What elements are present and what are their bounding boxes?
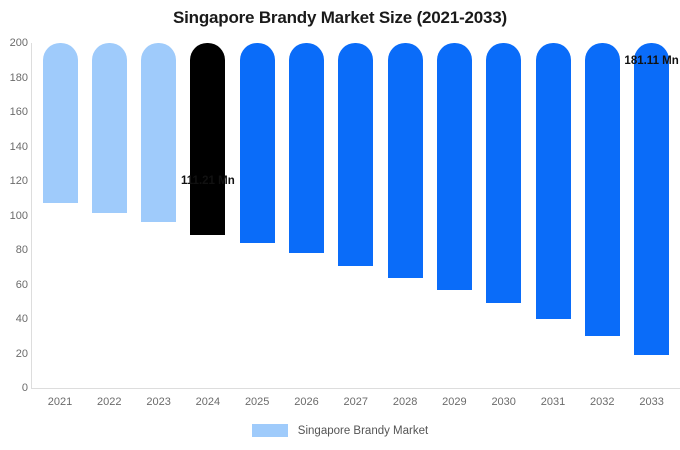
y-axis-tick-label: 60	[2, 279, 28, 291]
bar-chart: Singapore Brandy Market Size (2021-2033)…	[0, 0, 680, 450]
legend-swatch-singapore-brandy-market	[252, 424, 288, 437]
y-axis-tick-label: 180	[2, 72, 28, 84]
bar-value-label-2033: 181.11 Mn	[624, 55, 678, 67]
y-axis-tick-label: 200	[2, 37, 28, 49]
bar-2026[interactable]	[289, 43, 324, 253]
x-axis-tick-label-2025: 2025	[232, 396, 282, 408]
y-axis-tick-label: 80	[2, 244, 28, 256]
bar-fill-2021[interactable]	[43, 43, 78, 203]
y-axis-tick-label: 160	[2, 106, 28, 118]
bar-2024[interactable]	[190, 43, 225, 235]
bar-2027[interactable]	[338, 43, 373, 266]
y-axis: 020406080100120140160180200	[0, 0, 28, 450]
bar-2030[interactable]	[486, 43, 521, 303]
bar-2033[interactable]	[634, 43, 669, 355]
x-axis-tick-label-2026: 2026	[282, 396, 332, 408]
bar-fill-2027[interactable]	[338, 43, 373, 266]
x-axis-line	[31, 388, 680, 389]
bar-2023[interactable]	[141, 43, 176, 222]
bar-value-label-2024: 111.21 Mn	[181, 175, 235, 187]
bar-fill-2032[interactable]	[585, 43, 620, 336]
legend-label-singapore-brandy-market: Singapore Brandy Market	[298, 425, 428, 437]
bar-fill-2026[interactable]	[289, 43, 324, 253]
x-axis-tick-label-2022: 2022	[84, 396, 134, 408]
bar-fill-2022[interactable]	[92, 43, 127, 213]
bar-fill-2028[interactable]	[388, 43, 423, 278]
bar-2025[interactable]	[240, 43, 275, 243]
x-axis-tick-label-2031: 2031	[528, 396, 578, 408]
bar-fill-2025[interactable]	[240, 43, 275, 243]
x-axis-tick-label-2027: 2027	[331, 396, 381, 408]
bar-2029[interactable]	[437, 43, 472, 290]
bar-2022[interactable]	[92, 43, 127, 213]
x-axis-tick-label-2029: 2029	[429, 396, 479, 408]
x-axis-tick-label-2032: 2032	[577, 396, 627, 408]
x-axis-tick-label-2021: 2021	[35, 396, 85, 408]
bar-fill-2030[interactable]	[486, 43, 521, 303]
x-axis-tick-label-2030: 2030	[479, 396, 529, 408]
bar-2032[interactable]	[585, 43, 620, 336]
x-axis-tick-label-2024: 2024	[183, 396, 233, 408]
y-axis-tick-label: 40	[2, 313, 28, 325]
y-axis-tick-label: 20	[2, 348, 28, 360]
y-axis-tick-label: 120	[2, 175, 28, 187]
bar-fill-2031[interactable]	[536, 43, 571, 319]
chart-title: Singapore Brandy Market Size (2021-2033)	[0, 8, 680, 28]
bar-fill-2033[interactable]	[634, 43, 669, 355]
plot-area	[31, 43, 680, 388]
chart-legend: Singapore Brandy Market	[0, 424, 680, 437]
bar-fill-2029[interactable]	[437, 43, 472, 290]
x-axis-tick-label-2028: 2028	[380, 396, 430, 408]
x-axis-tick-label-2033: 2033	[627, 396, 677, 408]
bar-2021[interactable]	[43, 43, 78, 203]
bar-fill-2024[interactable]	[190, 43, 225, 235]
y-axis-tick-label: 100	[2, 210, 28, 222]
bar-2028[interactable]	[388, 43, 423, 278]
bar-fill-2023[interactable]	[141, 43, 176, 222]
bar-2031[interactable]	[536, 43, 571, 319]
y-axis-tick-label: 0	[2, 382, 28, 394]
y-axis-tick-label: 140	[2, 141, 28, 153]
x-axis-tick-label-2023: 2023	[134, 396, 184, 408]
